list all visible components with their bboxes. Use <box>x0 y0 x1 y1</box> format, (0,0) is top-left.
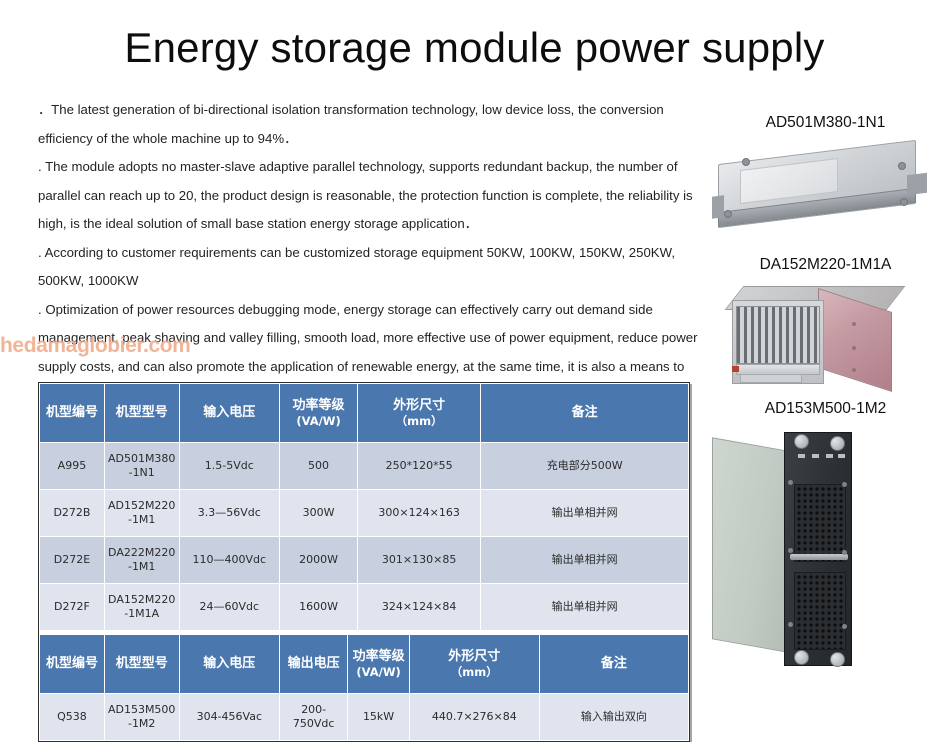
header-dimensions: 外形尺寸 （mm） <box>357 384 480 443</box>
module-left-bracket <box>712 195 724 218</box>
header-input-voltage: 输入电压 <box>179 635 280 694</box>
module-screw <box>788 480 793 485</box>
cell-remark: 输出单相并网 <box>481 584 689 631</box>
cell-power: 2000W <box>280 537 358 584</box>
header-power-rating: 功率等级 (VA/W) <box>280 384 358 443</box>
product-block-1: AD501M380-1N1 <box>702 110 949 246</box>
cell-dimensions: 324×124×84 <box>357 584 480 631</box>
table-header-row: 机型编号 机型型号 输入电压 输出电压 功率等级 (VA/W) 外形尺寸 （mm <box>40 635 689 694</box>
module-thumbscrew <box>830 436 845 451</box>
cell-dimensions: 440.7×276×84 <box>409 694 539 741</box>
module-fan-grille-top <box>794 484 846 562</box>
specifications-table-secondary: 机型编号 机型型号 输入电压 输出电压 功率等级 (VA/W) 外形尺寸 （mm <box>39 634 689 741</box>
module-screw <box>852 368 856 372</box>
product-image-column: AD501M380-1N1 DA152M220-1M1A <box>702 110 949 680</box>
cell-dimensions: 301×130×85 <box>357 537 480 584</box>
cell-power: 1600W <box>280 584 358 631</box>
header-model-code: 机型编号 <box>40 384 105 443</box>
module-screw <box>842 482 847 487</box>
module-screw <box>852 346 856 350</box>
cell-model-code: D272B <box>40 490 105 537</box>
header-remark: 备注 <box>481 384 689 443</box>
flat-silver-rack-module-photo <box>702 138 949 246</box>
cell-input-voltage: 110—400Vdc <box>179 537 280 584</box>
cell-power: 15kW <box>348 694 410 741</box>
cell-remark: 充电部分500W <box>481 443 689 490</box>
module-status-led <box>826 454 833 458</box>
vented-mauve-module-photo <box>702 280 949 390</box>
cell-input-voltage: 1.5-5Vdc <box>179 443 280 490</box>
cell-dimensions: 300×124×163 <box>357 490 480 537</box>
module-vent-grille <box>736 306 820 364</box>
product-label-da152m220-1m1a: DA152M220-1M1A <box>702 252 949 280</box>
product-block-2: DA152M220-1M1A <box>702 252 949 390</box>
cell-model-number: AD501M380-1N1 <box>104 443 179 490</box>
cell-model-number: DA222M220-1M1 <box>104 537 179 584</box>
module-screw <box>788 622 793 627</box>
product-block-3: AD153M500-1M2 <box>702 396 949 674</box>
tall-dark-fan-module-photo <box>702 424 949 674</box>
module-screw <box>852 322 856 326</box>
module-screw <box>900 198 908 206</box>
cell-model-number: AD152M220-1M1 <box>104 490 179 537</box>
cell-remark: 输出单相并网 <box>481 537 689 584</box>
module-handle <box>790 554 848 560</box>
module-side-panel <box>712 437 788 652</box>
cell-power: 300W <box>280 490 358 537</box>
cell-model-number: DA152M220-1M1A <box>104 584 179 631</box>
module-screw <box>742 158 750 166</box>
description-text-block: ．The latest generation of bi-directional… <box>38 96 700 410</box>
table-row: A995 AD501M380-1N1 1.5-5Vdc 500 250*120*… <box>40 443 689 490</box>
description-paragraph-2: . The module adopts no master-slave adap… <box>38 153 700 239</box>
module-status-led <box>798 454 805 458</box>
cell-dimensions: 250*120*55 <box>357 443 480 490</box>
table-header-row: 机型编号 机型型号 输入电压 功率等级 (VA/W) 外形尺寸 （mm） 备注 <box>40 384 689 443</box>
module-fan-grille-bottom <box>794 572 846 650</box>
header-model-number: 机型型号 <box>104 384 179 443</box>
cell-output-voltage: 200-750Vdc <box>280 694 348 741</box>
cell-remark: 输出单相并网 <box>481 490 689 537</box>
specifications-tables: 机型编号 机型型号 输入电压 功率等级 (VA/W) 外形尺寸 （mm） 备注 <box>38 382 690 742</box>
module-status-led <box>812 454 819 458</box>
module-thumbscrew <box>794 650 809 665</box>
module-right-bracket <box>907 173 927 195</box>
module-screw <box>842 624 847 629</box>
cell-model-code: Q538 <box>40 694 105 741</box>
module-screw <box>898 162 906 170</box>
cell-remark: 输入输出双向 <box>539 694 688 741</box>
header-input-voltage: 输入电压 <box>179 384 280 443</box>
cell-input-voltage: 24—60Vdc <box>179 584 280 631</box>
module-screw <box>724 210 732 218</box>
description-paragraph-3: . According to customer requirements can… <box>38 239 700 296</box>
module-card-slot <box>740 374 802 383</box>
page-title: Energy storage module power supply <box>0 24 949 72</box>
product-label-ad501m380-1n1: AD501M380-1N1 <box>702 110 949 138</box>
description-paragraph-1: ．The latest generation of bi-directional… <box>38 96 700 153</box>
cell-power: 500 <box>280 443 358 490</box>
module-thumbscrew <box>794 434 809 449</box>
header-remark: 备注 <box>539 635 688 694</box>
module-status-led <box>838 454 845 458</box>
module-thumbscrew <box>830 652 845 667</box>
cell-model-code: D272E <box>40 537 105 584</box>
table-row: D272B AD152M220-1M1 3.3—56Vdc 300W 300×1… <box>40 490 689 537</box>
product-label-ad153m500-1m2: AD153M500-1M2 <box>702 396 949 424</box>
cell-model-code: D272F <box>40 584 105 631</box>
header-output-voltage: 输出电压 <box>280 635 348 694</box>
cell-model-code: A995 <box>40 443 105 490</box>
module-screw <box>842 550 847 555</box>
cell-input-voltage: 304-456Vac <box>179 694 280 741</box>
header-model-code: 机型编号 <box>40 635 105 694</box>
header-dimensions: 外形尺寸 （mm） <box>409 635 539 694</box>
table-row: D272F DA152M220-1M1A 24—60Vdc 1600W 324×… <box>40 584 689 631</box>
cell-model-number: AD153M500-1M2 <box>104 694 179 741</box>
module-screw <box>788 548 793 553</box>
header-power-rating: 功率等级 (VA/W) <box>348 635 410 694</box>
specifications-table-primary: 机型编号 机型型号 输入电压 功率等级 (VA/W) 外形尺寸 （mm） 备注 <box>39 383 689 631</box>
table-row: D272E DA222M220-1M1 110—400Vdc 2000W 301… <box>40 537 689 584</box>
cell-input-voltage: 3.3—56Vdc <box>179 490 280 537</box>
module-status-led <box>732 366 739 372</box>
table-row: Q538 AD153M500-1M2 304-456Vac 200-750Vdc… <box>40 694 689 741</box>
header-model-number: 机型型号 <box>104 635 179 694</box>
